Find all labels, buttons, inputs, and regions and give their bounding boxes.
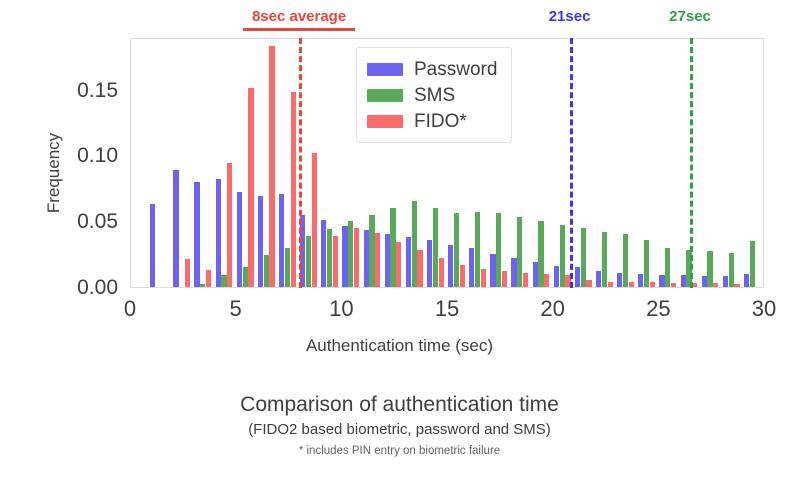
bar-sms (200, 284, 205, 287)
bar-password (469, 248, 474, 287)
bar-fido (650, 282, 655, 287)
caption-title: Comparison of authentication time (0, 392, 799, 418)
legend-swatch-icon (367, 115, 403, 128)
bar-password (194, 182, 199, 287)
bar-fido (608, 282, 613, 287)
bar-password (533, 262, 538, 287)
bar-password (216, 179, 221, 287)
bar-fido (227, 163, 232, 287)
bar-password (279, 194, 284, 287)
bar-fido (586, 280, 591, 287)
bar-sms (623, 234, 628, 287)
x-tick-label: 10 (329, 296, 353, 322)
bar-password (237, 192, 242, 287)
y-tick-label: 0.15 (0, 79, 118, 103)
bar-fido (248, 88, 253, 287)
bar-sms (665, 248, 670, 287)
bar-sms (264, 255, 269, 287)
bar-password (364, 230, 369, 287)
bar-fido (481, 269, 486, 287)
legend-item[interactable]: FIDO* (367, 108, 497, 134)
bar-fido (502, 271, 507, 287)
bar-sms (412, 201, 417, 287)
y-axis-label: Frequency (44, 113, 64, 233)
bar-password (150, 204, 155, 287)
bar-fido (460, 265, 465, 287)
bar-fido (185, 259, 190, 287)
bar-fido (375, 233, 380, 287)
bar-sms (729, 253, 734, 287)
x-axis: 051015202530 (0, 296, 799, 330)
threshold-label: 27sec (669, 8, 711, 25)
bar-sms (475, 212, 480, 287)
bar-fido (396, 242, 401, 287)
bar-sms (707, 251, 712, 287)
bar-fido (354, 228, 359, 287)
bar-sms (644, 240, 649, 287)
bar-sms (517, 217, 522, 287)
bar-password (385, 234, 390, 287)
chart-figure: 0.000.050.100.15 Frequency 8sec average2… (0, 0, 799, 478)
bar-fido (734, 284, 739, 287)
bar-password (554, 266, 559, 287)
bar-password (258, 196, 263, 287)
legend-item-label: FIDO* (414, 112, 467, 131)
bar-password (490, 254, 495, 287)
threshold-underline (243, 28, 355, 31)
threshold-label: 21sec (549, 8, 591, 25)
threshold-label: 8sec average (252, 8, 346, 25)
bar-password (723, 276, 728, 287)
bar-password (406, 237, 411, 287)
bar-password (659, 275, 664, 287)
bar-sms (369, 215, 374, 287)
x-tick-label: 30 (752, 296, 776, 322)
bar-fido (417, 250, 422, 287)
caption-footnote: * includes PIN entry on biometric failur… (0, 444, 799, 460)
bar-password (342, 226, 347, 287)
bar-sms (496, 213, 501, 287)
bar-fido (439, 258, 444, 287)
bar-fido (312, 153, 317, 287)
legend: PasswordSMSFIDO* (356, 47, 512, 143)
bar-sms (433, 208, 438, 287)
bar-password (617, 273, 622, 287)
bar-password (321, 220, 326, 287)
legend-item[interactable]: Password (367, 56, 497, 82)
x-tick-label: 20 (540, 296, 564, 322)
bar-password (427, 240, 432, 287)
bar-sms (327, 229, 332, 287)
legend-swatch-icon (367, 63, 403, 76)
bar-password (596, 271, 601, 287)
legend-item-label: SMS (414, 86, 455, 105)
bar-sms (538, 221, 543, 287)
bar-sms (602, 232, 607, 287)
bar-sms (560, 225, 565, 287)
bar-sms (348, 221, 353, 287)
bar-sms (285, 248, 290, 287)
threshold-line (570, 38, 573, 288)
bar-sms (390, 208, 395, 287)
bar-fido (671, 283, 676, 287)
caption: Comparison of authentication time (FIDO2… (0, 392, 799, 459)
bar-sms (243, 267, 248, 287)
x-tick-label: 25 (646, 296, 670, 322)
bar-sms (581, 228, 586, 287)
bar-password (448, 245, 453, 287)
bar-fido (629, 282, 634, 287)
bar-password (575, 267, 580, 287)
x-tick-label: 15 (435, 296, 459, 322)
bar-fido (523, 273, 528, 287)
legend-swatch-icon (367, 89, 403, 102)
bar-sms (454, 213, 459, 287)
legend-item[interactable]: SMS (367, 82, 497, 108)
x-tick-label: 5 (230, 296, 242, 322)
bar-fido (206, 270, 211, 287)
bar-password (511, 258, 516, 287)
bar-fido (544, 274, 549, 287)
bar-password (638, 274, 643, 287)
bar-fido (269, 46, 274, 287)
bar-sms (306, 236, 311, 287)
bar-sms (221, 275, 226, 287)
bar-fido (291, 92, 296, 287)
x-axis-label: Authentication time (sec) (0, 336, 799, 356)
caption-subtitle: (FIDO2 based biometric, password and SMS… (0, 420, 799, 440)
threshold-line (690, 38, 693, 288)
bar-fido (333, 236, 338, 287)
bar-password (173, 170, 178, 287)
x-tick-label: 0 (124, 296, 136, 322)
bar-password (702, 276, 707, 287)
threshold-line (299, 38, 302, 288)
bar-sms (750, 241, 755, 287)
bar-password (681, 275, 686, 287)
legend-item-label: Password (414, 60, 497, 79)
bar-password (744, 274, 749, 287)
bar-fido (713, 283, 718, 287)
